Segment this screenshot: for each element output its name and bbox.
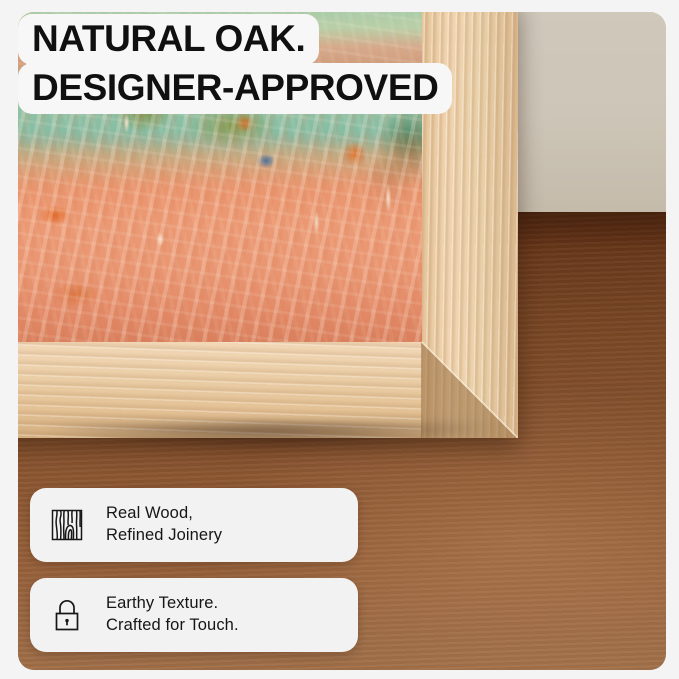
feature-badge-list: Real Wood, Refined Joinery Earthy Textur… [30,488,358,652]
headline-line-1: NATURAL OAK. [18,14,319,65]
product-image-canvas: NATURAL OAK. DESIGNER-APPROVED [0,0,679,679]
feature-badge-real-wood: Real Wood, Refined Joinery [30,488,358,562]
wood-grain-icon [48,506,86,544]
padlock-icon [48,596,86,634]
badge-line-2: Refined Joinery [106,525,222,547]
feature-badge-real-wood-text: Real Wood, Refined Joinery [106,503,222,547]
headline-line-2: DESIGNER-APPROVED [18,63,452,114]
badge-line-1: Earthy Texture. [106,594,218,612]
headline: NATURAL OAK. DESIGNER-APPROVED [18,14,452,114]
frame-cast-shadow [18,424,544,458]
feature-badge-earthy-texture-text: Earthy Texture. Crafted for Touch. [106,593,239,637]
badge-line-2: Crafted for Touch. [106,615,239,637]
feature-badge-earthy-texture: Earthy Texture. Crafted for Touch. [30,578,358,652]
badge-line-1: Real Wood, [106,504,193,522]
